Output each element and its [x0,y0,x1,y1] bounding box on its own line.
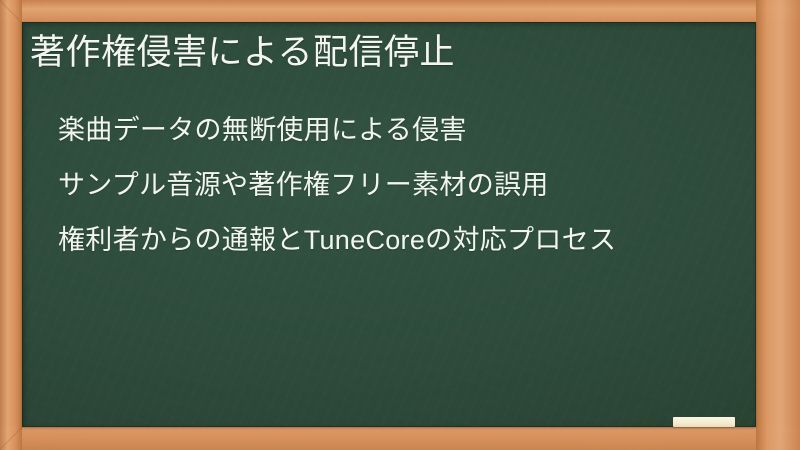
list-item: サンプル音源や著作権フリー素材の誤用 [58,158,718,213]
chalk-stick-icon [673,417,735,427]
list-item: 権利者からの通報とTuneCoreの対応プロセス [58,213,718,268]
frame-left-rail [0,0,22,450]
frame-top-rail [0,0,800,22]
bullet-list: 楽曲データの無断使用による侵害 サンプル音源や著作権フリー素材の誤用 権利者から… [58,103,718,268]
frame-bottom-ledge [0,426,800,450]
page-title: 著作権侵害による配信停止 [30,31,455,75]
list-item: 楽曲データの無断使用による侵害 [58,103,718,158]
chalkboard-slide: 著作権侵害による配信停止 楽曲データの無断使用による侵害 サンプル音源や著作権フ… [0,0,800,450]
frame-right-rail [756,0,800,450]
